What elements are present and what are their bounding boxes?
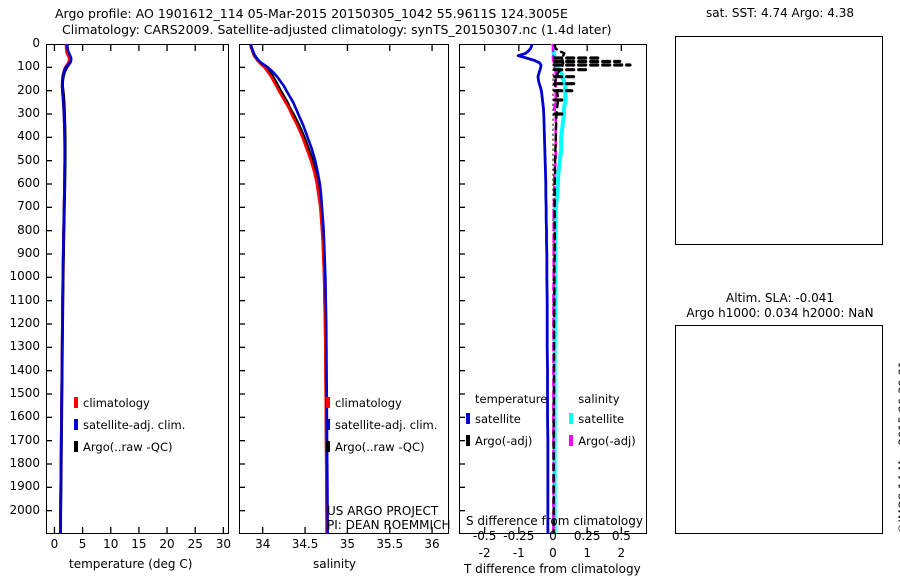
y-tick-label: 1700 <box>9 433 40 447</box>
legend-color-swatch <box>74 397 78 408</box>
legend-label: climatology <box>335 396 402 410</box>
x-tick-label-top: 0.25 <box>574 529 601 543</box>
difference-plot-canvas <box>459 44 647 534</box>
imos-credit: ©IMOS 14-Mar-2015 20:39:31 <box>896 361 900 534</box>
legend-label: satellite <box>578 412 624 426</box>
legend-label: Argo(..raw -QC) <box>335 440 425 454</box>
legend-color-swatch <box>326 441 330 452</box>
x-tick-label: 30 <box>216 537 231 551</box>
legend-item: climatology <box>74 392 185 411</box>
x-tick-label: 36 <box>424 537 439 551</box>
legend-item: satellite <box>466 408 547 427</box>
y-tick-label: 1300 <box>9 339 40 353</box>
y-tick-label: 100 <box>17 59 40 73</box>
x-tick-label: 35.5 <box>376 537 403 551</box>
difference-s-axis-label: S difference from climatology <box>466 514 643 528</box>
salinity-annotation-line2: PI: DEAN ROEMMICH <box>327 518 450 532</box>
legend-color-swatch <box>466 413 470 424</box>
sst-map-title: sat. SST: 4.74 Argo: 4.38 <box>672 6 888 20</box>
y-tick-label: 0 <box>32 36 40 50</box>
x-tick-label-top: -0.25 <box>503 529 534 543</box>
sla-map-y-tick-labels <box>640 325 672 534</box>
difference-t-axis-label: T difference from climatology <box>464 562 641 576</box>
y-tick-label: 1100 <box>9 293 40 307</box>
y-tick-label: 1200 <box>9 316 40 330</box>
sst-map-y-tick-labels <box>640 36 672 245</box>
y-tick-label: 1000 <box>9 269 40 283</box>
temperature-x-axis-label: temperature (deg C) <box>69 557 192 571</box>
legend-heading: salinity <box>578 392 635 406</box>
x-tick-label: 5 <box>79 537 87 551</box>
legend-item: satellite <box>569 408 635 427</box>
legend-color-swatch <box>326 419 330 430</box>
temperature-legend: climatologysatellite-adj. clim.Argo(..ra… <box>74 392 185 458</box>
temperature-y-tick-labels: 0100200300400500600700800900100011001200… <box>0 44 44 534</box>
x-tick-label-top: 0.5 <box>612 529 631 543</box>
x-tick-label: 15 <box>131 537 146 551</box>
difference-t-tick-labels: -2-1012 <box>459 546 647 562</box>
legend-column: temperaturesatelliteArgo(-adj) <box>466 392 547 452</box>
sla-map-x-tick-labels <box>675 538 883 554</box>
legend-label: satellite-adj. clim. <box>335 418 437 432</box>
y-tick-label: 400 <box>17 129 40 143</box>
legend-item: Argo(..raw -QC) <box>74 436 185 455</box>
salinity-x-tick-labels: 3434.53535.536 <box>239 537 449 553</box>
sla-map-canvas <box>675 325 883 534</box>
legend-color-swatch <box>74 441 78 452</box>
legend-label: satellite <box>475 412 521 426</box>
legend-heading: temperature <box>475 392 547 406</box>
legend-color-swatch <box>569 413 573 424</box>
figure-title-line2: Climatology: CARS2009. Satellite-adjuste… <box>62 22 612 37</box>
temperature-x-tick-labels: 051015202530 <box>46 537 229 553</box>
x-tick-label-bottom: 1 <box>583 546 591 560</box>
difference-legend: temperaturesatelliteArgo(-adj)salinitysa… <box>466 392 636 452</box>
legend-item: climatology <box>326 392 437 411</box>
y-tick-label: 600 <box>17 176 40 190</box>
sla-map-title-line1: Altim. SLA: -0.041 <box>672 291 888 305</box>
legend-item: satellite-adj. clim. <box>74 414 185 433</box>
x-tick-label: 20 <box>159 537 174 551</box>
y-tick-label: 1900 <box>9 479 40 493</box>
y-tick-label: 800 <box>17 223 40 237</box>
salinity-legend: climatologysatellite-adj. clim.Argo(..ra… <box>326 392 437 458</box>
salinity-annotation-line1: US ARGO PROJECT <box>327 504 438 518</box>
legend-color-swatch <box>326 397 330 408</box>
y-tick-label: 700 <box>17 199 40 213</box>
y-tick-label: 500 <box>17 153 40 167</box>
temperature-plot-canvas <box>46 44 229 534</box>
y-tick-label: 900 <box>17 246 40 260</box>
legend-color-swatch <box>569 435 573 446</box>
legend-label: climatology <box>83 396 150 410</box>
y-tick-label: 1600 <box>9 409 40 423</box>
x-tick-label-top: 0 <box>549 529 557 543</box>
salinity-x-axis-label: salinity <box>313 557 356 571</box>
x-tick-label: 10 <box>103 537 118 551</box>
x-tick-label: 25 <box>188 537 203 551</box>
x-tick-label: 35 <box>340 537 355 551</box>
x-tick-label-bottom: 0 <box>549 546 557 560</box>
y-tick-label: 2000 <box>9 503 40 517</box>
y-tick-label: 1500 <box>9 386 40 400</box>
x-tick-label: 34.5 <box>292 537 319 551</box>
legend-item: Argo(..raw -QC) <box>326 436 437 455</box>
y-tick-label: 300 <box>17 106 40 120</box>
sla-map-title-line2: Argo h1000: 0.034 h2000: NaN <box>664 306 896 320</box>
legend-column: salinitysatelliteArgo(-adj) <box>569 392 635 452</box>
salinity-plot-canvas <box>239 44 449 534</box>
y-tick-label: 200 <box>17 83 40 97</box>
legend-item: Argo(-adj) <box>569 430 635 449</box>
y-tick-label: 1800 <box>9 456 40 470</box>
legend-label: Argo(..raw -QC) <box>83 440 173 454</box>
legend-color-swatch <box>466 435 470 446</box>
x-tick-label: 34 <box>255 537 270 551</box>
y-tick-label: 1400 <box>9 363 40 377</box>
x-tick-label: 0 <box>51 537 59 551</box>
figure-title-line1: Argo profile: AO 1901612_114 05-Mar-2015… <box>55 6 568 21</box>
x-tick-label-top: -0.5 <box>473 529 496 543</box>
sst-map-x-tick-labels <box>675 249 883 265</box>
sst-map-canvas <box>675 36 883 245</box>
legend-color-swatch <box>74 419 78 430</box>
x-tick-label-bottom: -2 <box>479 546 491 560</box>
legend-item: Argo(-adj) <box>466 430 547 449</box>
legend-item: satellite-adj. clim. <box>326 414 437 433</box>
legend-label: satellite-adj. clim. <box>83 418 185 432</box>
difference-s-tick-labels: -0.5-0.2500.250.5 <box>459 529 647 545</box>
x-tick-label-bottom: -1 <box>513 546 525 560</box>
legend-label: Argo(-adj) <box>578 434 635 448</box>
x-tick-label-bottom: 2 <box>618 546 626 560</box>
legend-label: Argo(-adj) <box>475 434 532 448</box>
